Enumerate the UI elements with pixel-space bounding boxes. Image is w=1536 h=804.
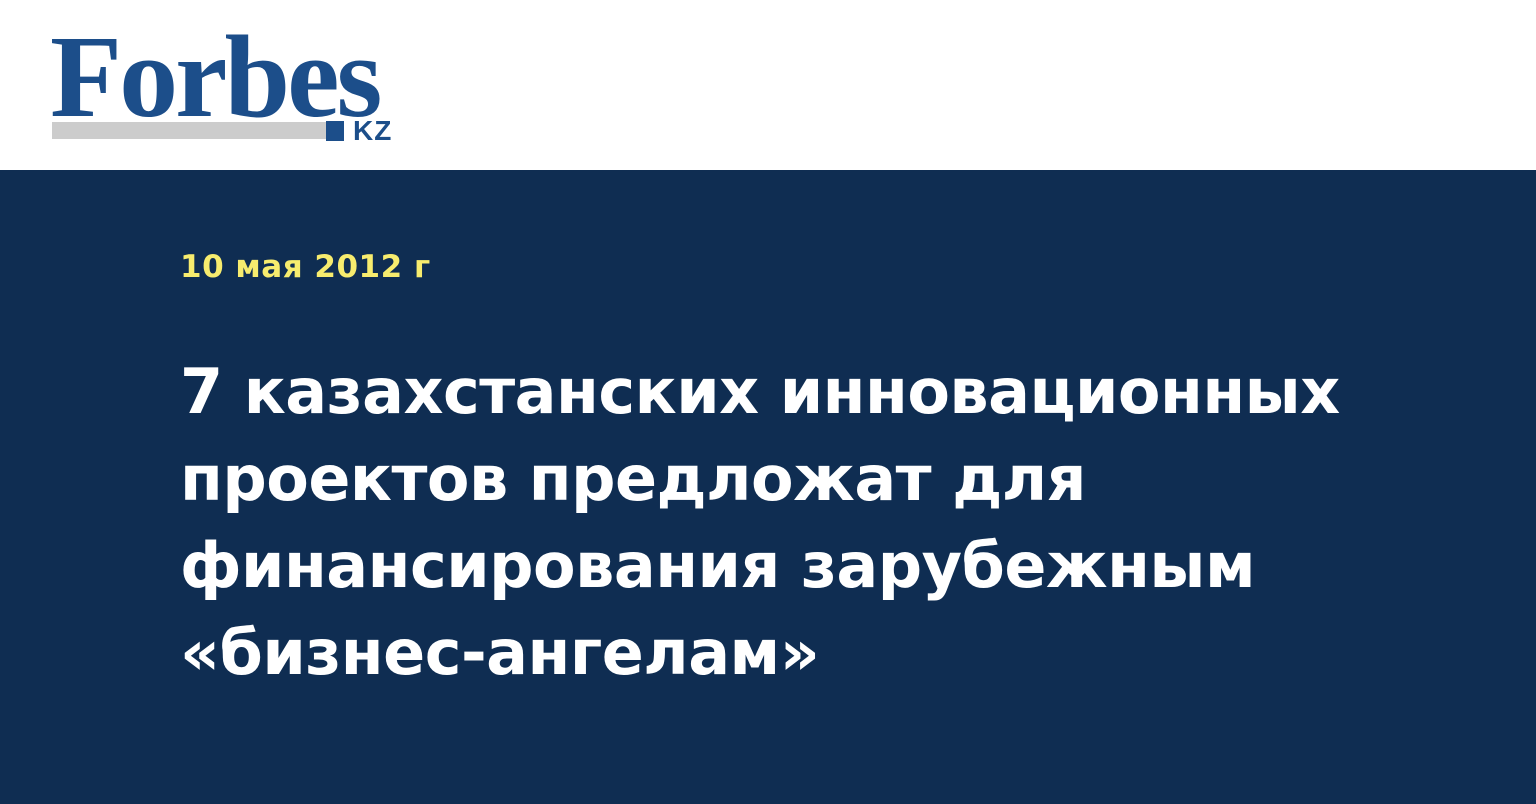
article-hero-band: 10 мая 2012 г 7 казахстанских инновацион… [0, 170, 1536, 804]
logo-kz-suffix: KZ [353, 117, 392, 145]
page-title-line: финансирования зарубежным [180, 522, 1410, 609]
logo-square-mark [326, 121, 344, 141]
forbes-kz-logo[interactable]: Forbes KZ [50, 18, 470, 150]
article-date: 10 мая 2012 г [180, 252, 431, 283]
page-title-line: проектов предложат для [180, 435, 1410, 522]
site-header: Forbes KZ [0, 0, 1536, 170]
logo-kz-group: KZ [326, 119, 392, 143]
page-title: 7 казахстанских инновационных проектов п… [180, 348, 1410, 696]
article-hero-page: Forbes KZ 10 мая 2012 г 7 казахстанских … [0, 0, 1536, 804]
page-title-line: «бизнес-ангелам» [180, 609, 1410, 696]
logo-underline-rule [52, 122, 327, 139]
page-title-line: 7 казахстанских инновационных [180, 348, 1410, 435]
